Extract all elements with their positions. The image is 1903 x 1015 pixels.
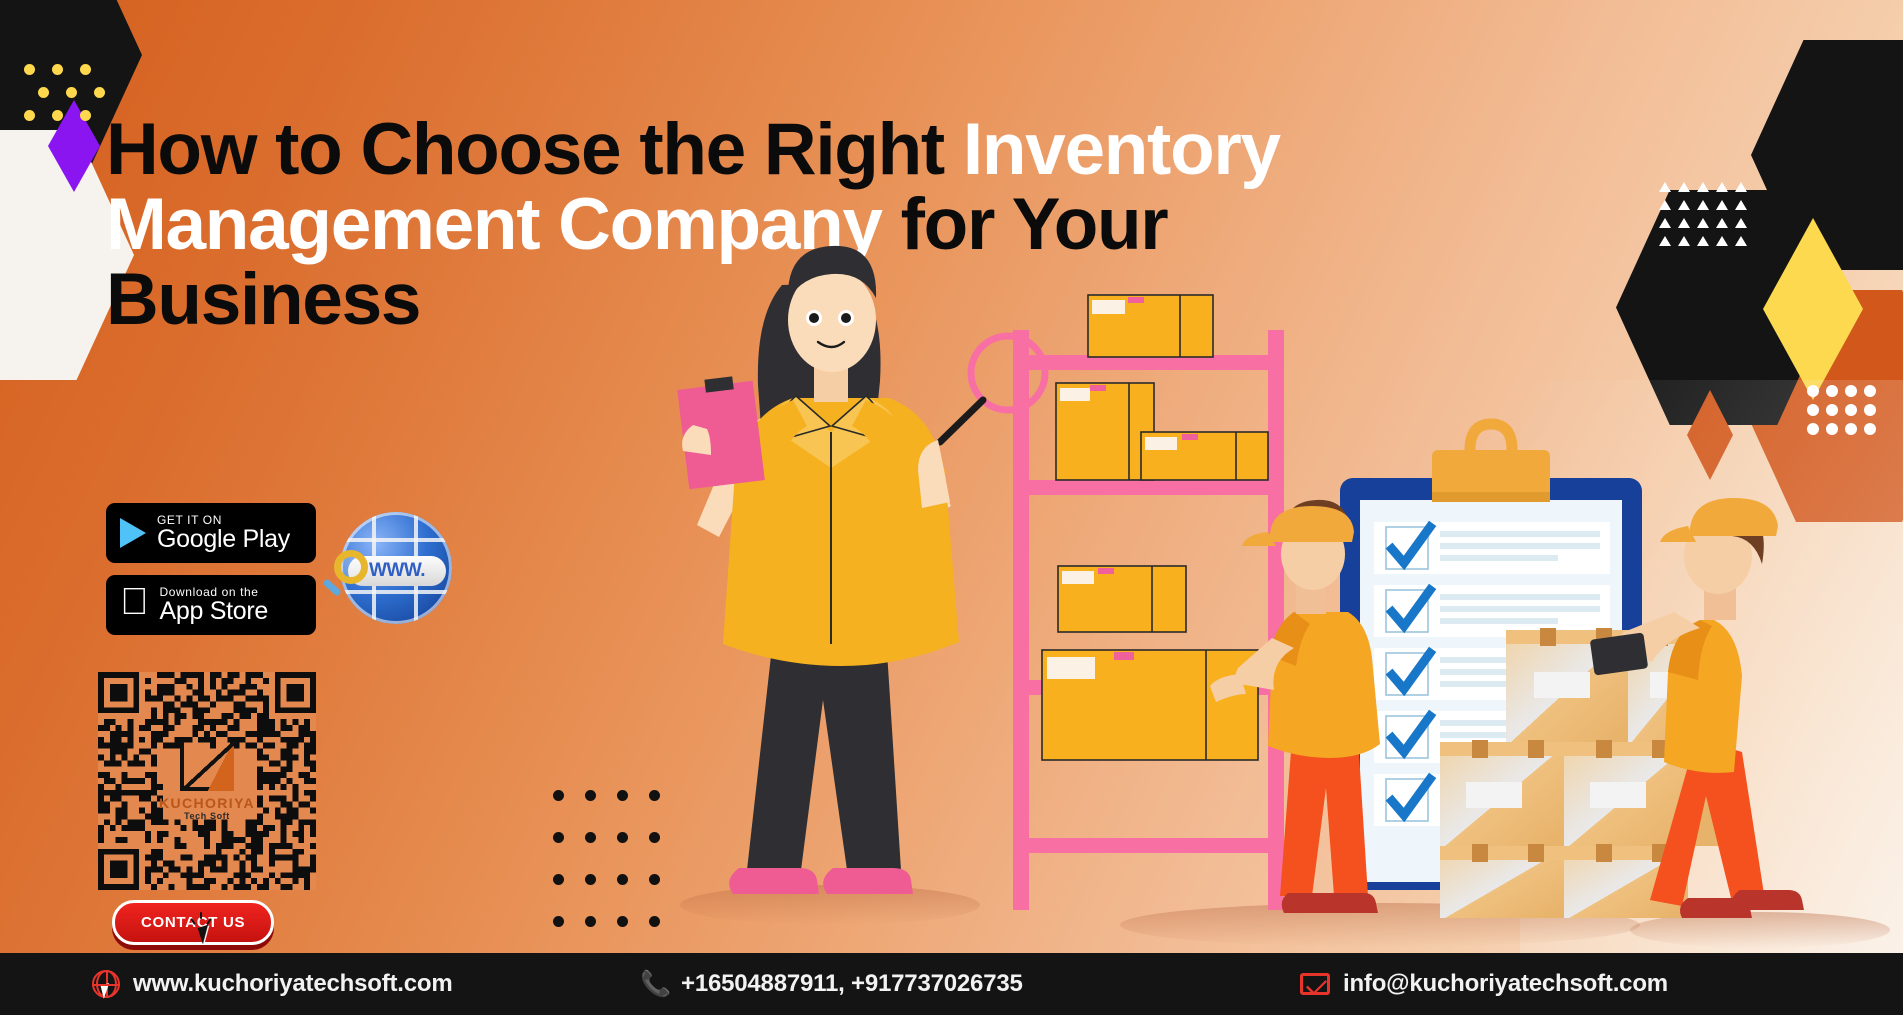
diamond-orange-icon <box>1687 390 1733 480</box>
globe-magnifier-icon <box>334 550 368 584</box>
globe-magnifier-handle <box>322 578 342 597</box>
globe-cursor-icon <box>92 970 120 998</box>
page-title: How to Choose the Right Inventory Manage… <box>106 112 1536 338</box>
headline-part-4: for Your <box>882 184 1168 265</box>
app-store-badges: GET IT ON Google Play  Download on the … <box>106 503 316 647</box>
headline-part-5: Business <box>106 259 420 340</box>
globe-search-icon: WWW. <box>340 512 452 624</box>
footer-website[interactable]: www.kuchoriyatechsoft.com <box>0 970 640 998</box>
google-play-label: Google Play <box>157 526 290 552</box>
footer-phones[interactable]: 📞 +16504887911, +917737026735 <box>640 970 1240 998</box>
footer-email-label: info@kuchoriyatechsoft.com <box>1343 970 1668 998</box>
pink-warehouse-rack <box>1013 295 1284 910</box>
magnifying-glass <box>940 336 1045 442</box>
headline-part-2: Inventory <box>963 109 1280 190</box>
app-store-badge[interactable]:  Download on the App Store <box>106 575 316 635</box>
warehouse-worker-pointing <box>1210 500 1380 913</box>
headline-part-3: Management Company <box>106 184 882 265</box>
marketing-banner: How to Choose the Right Inventory Manage… <box>0 0 1903 1015</box>
footer-email[interactable]: info@kuchoriyatechsoft.com <box>1240 970 1668 998</box>
phone-ringing-icon: 📞 <box>640 970 668 998</box>
google-play-badge[interactable]: GET IT ON Google Play <box>106 503 316 563</box>
dot-pattern-white <box>1807 385 1883 445</box>
diamond-yellow-icon <box>1763 218 1863 400</box>
google-play-triangle-icon <box>120 518 146 548</box>
triangle-pattern-white <box>1659 182 1751 252</box>
blue-checklist-clipboard <box>1340 424 1642 890</box>
headline-part-1: How to Choose the Right <box>106 109 963 190</box>
apple-logo-icon:  <box>120 583 149 621</box>
pink-clipboard <box>677 376 765 489</box>
warehouse-worker-with-tablet <box>1590 498 1804 918</box>
envelope-icon <box>1300 973 1330 995</box>
stacked-cardboard-cartons <box>1440 628 1730 918</box>
qr-code[interactable]: KUCHORIYA Tech Soft <box>98 672 316 890</box>
footer-website-label: www.kuchoriyatechsoft.com <box>133 970 453 998</box>
contact-footer-bar: www.kuchoriyatechsoft.com 📞 +16504887911… <box>0 953 1903 1015</box>
footer-phone-label: +16504887911, +917737026735 <box>681 970 1023 998</box>
woman-with-clipboard-and-magnifier <box>677 246 1045 894</box>
dot-grid-pattern <box>553 790 663 930</box>
app-store-label: App Store <box>160 598 268 624</box>
contact-cta-wrapper: CONTACT US <box>112 900 274 945</box>
dot-pattern-yellow <box>18 60 106 128</box>
